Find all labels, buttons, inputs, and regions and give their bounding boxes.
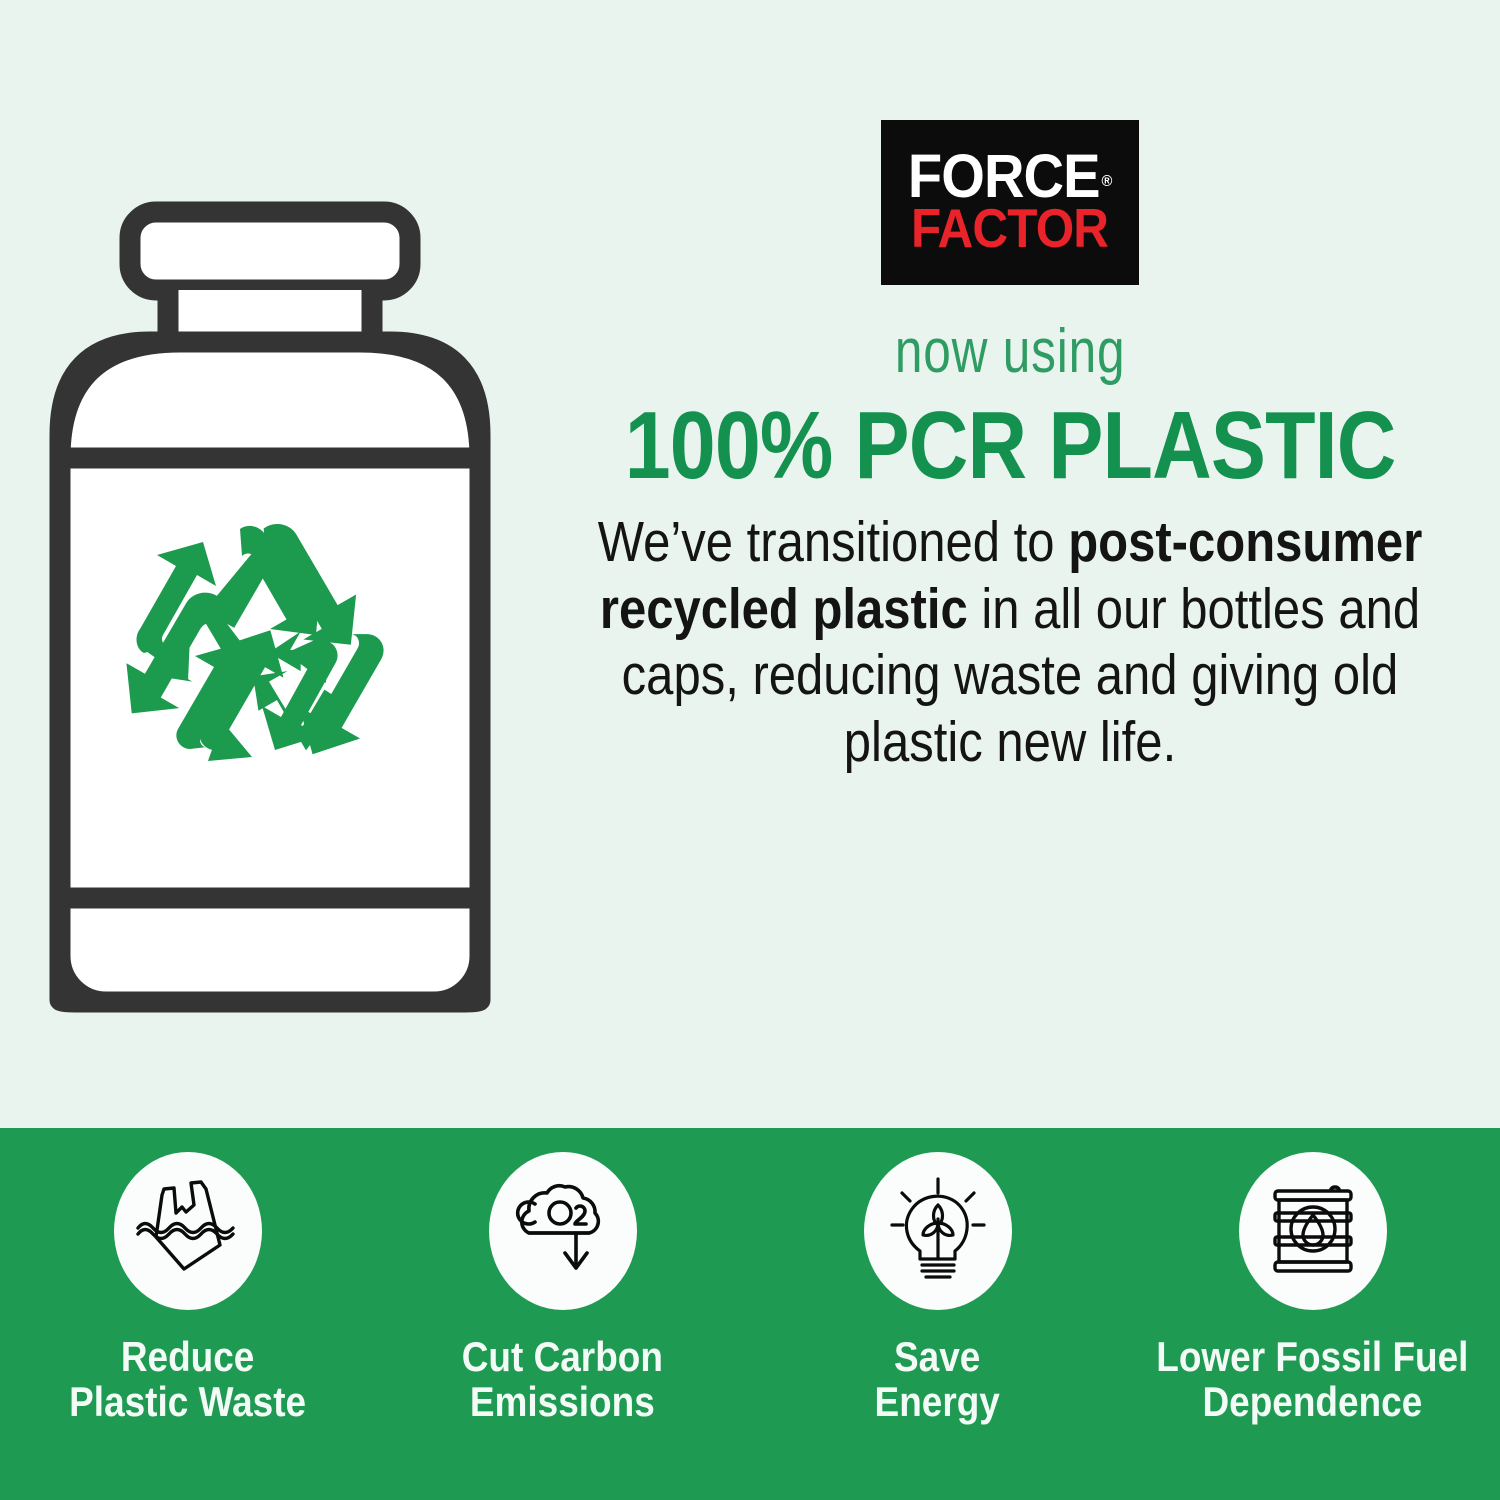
plastic-bag-in-water-icon: [128, 1171, 248, 1291]
benefit-icon-circle: [489, 1152, 637, 1310]
registered-mark-icon: ®: [1102, 174, 1112, 190]
top-section: FORCE® FACTOR now using 100% PCR PLASTIC…: [0, 0, 1500, 1128]
benefit-item-save-energy: Save Energy: [750, 1128, 1125, 1500]
logo-force-text: FORCE®: [908, 148, 1112, 204]
benefit-item-reduce-plastic-waste: Reduce Plastic Waste: [0, 1128, 375, 1500]
benefit-item-lower-fossil-fuel-dependence: Lower Fossil Fuel Dependence: [1125, 1128, 1500, 1500]
benefit-label: Cut Carbon Emissions: [462, 1334, 663, 1425]
oil-barrel-droplet-icon: [1253, 1171, 1373, 1291]
benefit-icon-circle: [864, 1152, 1012, 1310]
benefit-icon-circle: [114, 1152, 262, 1310]
benefit-label: Lower Fossil Fuel Dependence: [1156, 1334, 1468, 1425]
force-factor-logo: FORCE® FACTOR: [881, 120, 1139, 285]
benefit-icon-circle: [1239, 1152, 1387, 1310]
co2-cloud-down-arrow-icon: [503, 1171, 623, 1291]
page-title: 100% PCR PLASTIC: [625, 397, 1396, 495]
benefits-row: Reduce Plastic Waste: [0, 1128, 1500, 1500]
pcr-plastic-infographic: FORCE® FACTOR now using 100% PCR PLASTIC…: [0, 0, 1500, 1500]
hero-text-column: FORCE® FACTOR now using 100% PCR PLASTIC…: [560, 120, 1460, 1020]
benefit-item-cut-carbon-emissions: Cut Carbon Emissions: [375, 1128, 750, 1500]
body-copy: We’ve transitioned to post-consumer recy…: [580, 509, 1440, 776]
logo-factor-label: FACTOR: [911, 202, 1108, 254]
eyebrow-text: now using: [895, 321, 1126, 383]
benefit-label: Reduce Plastic Waste: [69, 1334, 306, 1425]
body-copy-part1: We’ve transitioned to: [598, 510, 1068, 574]
supplement-bottle-illustration: [30, 190, 550, 1030]
benefits-band: Reduce Plastic Waste: [0, 1128, 1500, 1500]
logo-force-label: FORCE: [908, 148, 1100, 204]
lightbulb-sprout-icon: [878, 1171, 998, 1291]
benefit-label: Save Energy: [875, 1334, 1000, 1425]
